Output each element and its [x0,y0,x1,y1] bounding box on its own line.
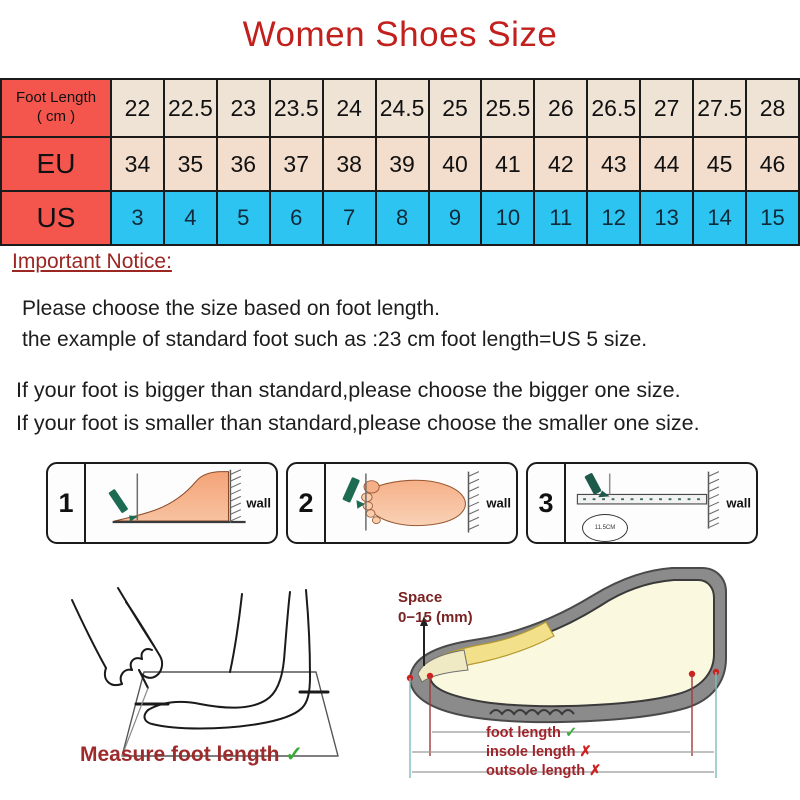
cell-us-9: 12 [587,191,640,245]
cell-us-12: 15 [746,191,799,245]
check-icon-foot-length: ✓ [565,725,577,741]
cell-us-11: 14 [693,191,746,245]
table-row-us: US 3 4 5 6 7 8 9 10 11 12 13 14 15 [1,191,799,245]
cell-eu-11: 45 [693,137,746,191]
notice-paragraph-2: If your foot is bigger than standard,ple… [16,374,700,440]
cell-foot-7: 25.5 [481,79,534,137]
cell-us-1: 4 [164,191,217,245]
page-title: Women Shoes Size [0,0,800,52]
bottom-illustrations: Measure foot length ✓ [0,556,800,800]
insole-length-text: insole length [486,744,575,760]
cell-eu-8: 42 [534,137,587,191]
step-panel-2: 2 [286,462,518,544]
row-header-line1: Foot Length [2,89,110,108]
row-header-eu: EU [1,137,111,191]
ruler-measure-callout: 11.5CM [582,514,628,542]
cell-eu-9: 43 [587,137,640,191]
cell-us-10: 13 [640,191,693,245]
cell-foot-6: 25 [429,79,482,137]
notice-line-2: the example of standard foot such as :23… [22,324,647,355]
cross-icon-outsole-length: ✗ [589,763,601,779]
space-annotation: Space 0−15 (mm) [398,588,473,628]
notice-line-3: If your foot is bigger than standard,ple… [16,374,700,407]
cell-eu-0: 34 [111,137,164,191]
foot-length-text: foot length [486,725,561,741]
measure-foot-length-diagram: Measure foot length ✓ [44,564,384,790]
row-header-line2: ( cm ) [2,108,110,127]
notice-paragraph-1: Please choose the size based on foot len… [22,293,647,355]
table-row-eu: EU 34 35 36 37 38 39 40 41 42 43 44 45 4… [1,137,799,191]
row-header-foot-length: Foot Length ( cm ) [1,79,111,137]
cell-us-3: 6 [270,191,323,245]
insole-length-annotation: insole length ✗ [486,743,601,762]
cell-eu-4: 38 [323,137,376,191]
cell-foot-0: 22 [111,79,164,137]
cell-foot-3: 23.5 [270,79,323,137]
step-2-illustration: wall [326,464,516,542]
size-table: Foot Length ( cm ) 22 22.5 23 23.5 24 24… [0,78,800,246]
cell-us-5: 8 [376,191,429,245]
wall-label-1: wall [246,496,271,511]
measure-label-text: Measure foot length [80,743,280,766]
cell-foot-11: 27.5 [693,79,746,137]
foot-length-annotation: foot length ✓ [486,724,601,743]
step-panel-3: 3 [526,462,758,544]
outsole-length-text: outsole length [486,763,585,779]
outsole-length-annotation: outsole length ✗ [486,762,601,781]
cell-eu-6: 40 [429,137,482,191]
shoe-cross-section-diagram: Space 0−15 (mm) foot length ✓ insole len… [386,566,786,794]
measure-foot-length-label: Measure foot length ✓ [80,742,303,767]
cell-eu-10: 44 [640,137,693,191]
cell-us-7: 10 [481,191,534,245]
cell-foot-4: 24 [323,79,376,137]
cell-foot-1: 22.5 [164,79,217,137]
important-notice-heading: Important Notice: [12,250,172,274]
cell-foot-2: 23 [217,79,270,137]
cell-foot-12: 28 [746,79,799,137]
step-number-3: 3 [528,464,566,542]
table-row-foot-length: Foot Length ( cm ) 22 22.5 23 23.5 24 24… [1,79,799,137]
step-panel-1: 1 [46,462,278,544]
cell-eu-3: 37 [270,137,323,191]
notice-line-4: If your foot is smaller than standard,pl… [16,407,700,440]
cell-us-4: 7 [323,191,376,245]
step-number-1: 1 [48,464,86,542]
cell-foot-10: 27 [640,79,693,137]
step-3-illustration: wall 11.5CM [566,464,756,542]
cell-us-0: 3 [111,191,164,245]
step-number-2: 2 [288,464,326,542]
space-label-line1: Space [398,588,473,608]
cell-eu-2: 36 [217,137,270,191]
cell-foot-9: 26.5 [587,79,640,137]
cell-eu-12: 46 [746,137,799,191]
cell-us-2: 5 [217,191,270,245]
row-header-us: US [1,191,111,245]
check-icon: ✓ [285,743,303,766]
notice-line-1: Please choose the size based on foot len… [22,293,647,324]
space-label-line2: 0−15 (mm) [398,608,473,628]
wall-label-2: wall [486,496,511,511]
cell-us-6: 9 [429,191,482,245]
wall-label-3: wall [726,496,751,511]
length-annotations: foot length ✓ insole length ✗ outsole le… [486,724,601,781]
size-chart-page: Women Shoes Size Foot Length ( cm ) 22 2… [0,0,800,800]
step-1-illustration: wall [86,464,276,542]
cell-foot-5: 24.5 [376,79,429,137]
cell-foot-8: 26 [534,79,587,137]
cell-us-8: 11 [534,191,587,245]
cell-eu-1: 35 [164,137,217,191]
cell-eu-5: 39 [376,137,429,191]
cross-icon-insole-length: ✗ [579,744,591,760]
cell-eu-7: 41 [481,137,534,191]
measurement-steps: 1 [46,462,758,544]
